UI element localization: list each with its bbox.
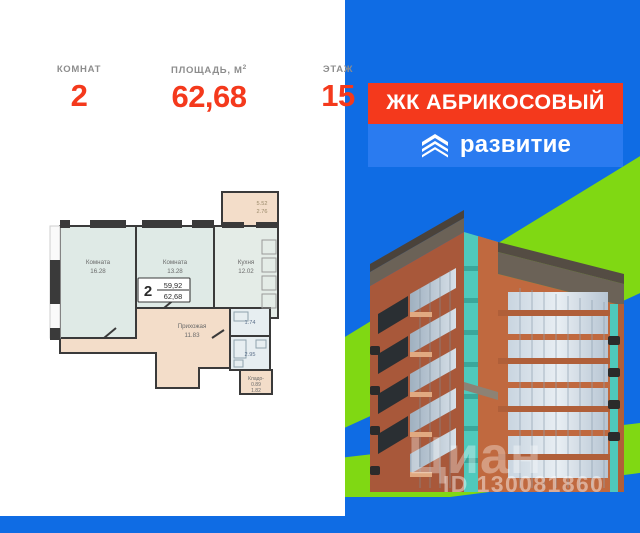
room-label-4-name: Прихожая [178, 323, 207, 330]
room-label-5-area: 1.82 [251, 388, 261, 394]
triple-chevron-icon [420, 132, 450, 158]
complex-name-banner: ЖК АБРИКОСОВЫЙ [368, 83, 623, 124]
stat-floor: ЭТАЖ 15 [288, 64, 388, 113]
brand-block: ЖК АБРИКОСОВЫЙ развитие [368, 83, 623, 167]
balcony-area-net: 2.76 [257, 209, 268, 215]
center-area-badge: 2 59,92 62,68 [138, 278, 190, 302]
center-badge-area-living: 59,92 [164, 281, 183, 290]
area-label-bath-1: 1.74 [245, 320, 256, 326]
center-badge-rooms: 2 [144, 283, 152, 300]
stat-rooms-label: КОМНАТ [42, 64, 116, 75]
developer-banner: развитие [368, 124, 623, 167]
developer-name: развитие [460, 133, 571, 157]
stat-rooms: КОМНАТ 2 [28, 64, 130, 113]
room-label-3-name: Кухня [238, 259, 255, 266]
floorplan-card: КОМНАТ 2 ПЛОЩАДЬ, М2 62,68 ЭТАЖ 15 [0, 0, 345, 516]
room-label-3-area: 12.02 [238, 268, 254, 275]
stat-area-value: 62,68 [144, 81, 274, 114]
room-label-4-area: 11.83 [184, 332, 200, 339]
room-label-2-name: Комната [163, 259, 188, 266]
center-badge-area-total: 62,68 [164, 292, 183, 301]
room-label-2-area: 13.28 [167, 268, 183, 275]
room-label-1-area: 16.28 [90, 268, 106, 275]
stat-floor-label: ЭТАЖ [302, 64, 374, 75]
stat-area-label-sup: 2 [243, 64, 247, 71]
stat-area-label-text: ПЛОЩАДЬ, М [171, 65, 243, 76]
area-label-bath-2: 2.95 [245, 352, 256, 358]
balcony-area-gross: 5.52 [257, 201, 268, 207]
apartment-stats: КОМНАТ 2 ПЛОЩАДЬ, М2 62,68 ЭТАЖ 15 [28, 64, 320, 114]
floorplan-diagram: Комната 16.28 Комната 13.28 Кухня 12.02 … [44, 188, 284, 398]
stat-rooms-value: 2 [42, 80, 116, 113]
stat-area: ПЛОЩАДЬ, М2 62,68 [130, 64, 288, 114]
stat-area-label: ПЛОЩАДЬ, М2 [144, 64, 274, 76]
stat-floor-value: 15 [302, 80, 374, 113]
watermark-listing-id: ID 130081860 [443, 473, 604, 496]
room-label-1-name: Комната [86, 259, 111, 266]
